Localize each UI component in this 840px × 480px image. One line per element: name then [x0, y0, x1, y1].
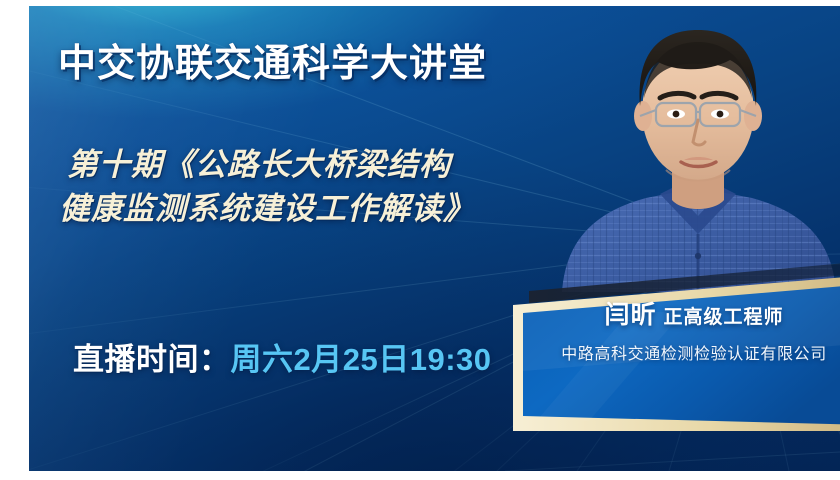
poster-canvas: 中交协联交通科学大讲堂 第十期《公路长大桥梁结构 健康监测系统建设工作解读》 直… [29, 6, 840, 471]
subtitle-line-1: 第十期《公路长大桥梁结构 [67, 143, 587, 187]
live-time-label: 直播时间： [73, 342, 231, 377]
subtitle-line-2: 健康监测系统建设工作解读》 [67, 187, 587, 231]
live-time-value: 周六2月25日19:30 [231, 342, 492, 377]
episode-subtitle: 第十期《公路长大桥梁结构 健康监测系统建设工作解读》 [67, 143, 587, 231]
speaker-nameplate: 闫昕正高级工程师 中路高科交通检测检验认证有限公司 [469, 253, 840, 438]
page-title: 中交协联交通科学大讲堂 [58, 32, 487, 87]
poster-frame: 中交协联交通科学大讲堂 第十期《公路长大桥梁结构 健康监测系统建设工作解读》 直… [0, 0, 840, 480]
live-time-line: 直播时间：周六2月25日19:30 [73, 334, 492, 379]
speaker-portrait-photo [548, 6, 840, 292]
